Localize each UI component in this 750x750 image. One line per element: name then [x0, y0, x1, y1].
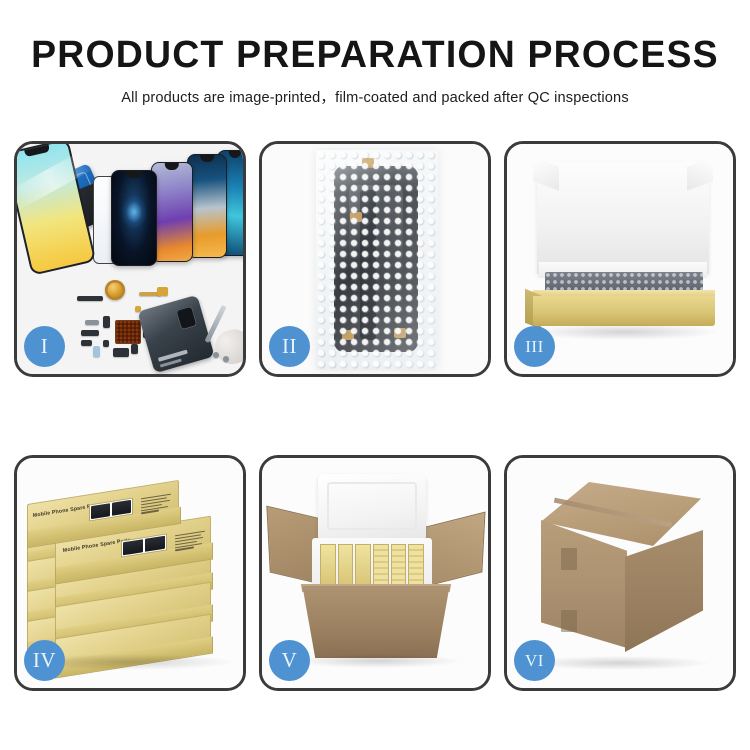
- component-part: [93, 346, 100, 357]
- yellow-box-front: [533, 296, 715, 326]
- step-panel-6: VI: [504, 455, 736, 691]
- component-part: [77, 296, 103, 301]
- copper-coil-icon: [105, 280, 125, 300]
- stacked-box-labelled: Mobile Phone Spare Parts: [27, 492, 179, 522]
- step-panel-3: III: [504, 141, 736, 377]
- step-badge-2: II: [269, 326, 310, 367]
- header: PRODUCT PREPARATION PROCESS All products…: [0, 36, 750, 107]
- grid-chip-icon: [115, 320, 141, 344]
- component-part: [213, 352, 219, 358]
- step-panel-5: V: [259, 455, 491, 691]
- carton-tab: [561, 610, 577, 632]
- purple-gradient-phone-icon: [151, 162, 193, 262]
- step-badge-5: V: [269, 640, 310, 681]
- dark-wallpaper-phone-icon: [111, 170, 157, 266]
- step-panel-4: Mobile Phone Spare Parts Mobile Phone Sp…: [14, 455, 246, 691]
- step-panel-1: I: [14, 141, 246, 377]
- foam-box-lid-icon: [318, 474, 426, 542]
- component-part: [81, 340, 92, 346]
- plastic-sheen: [316, 150, 438, 370]
- page-subtitle: All products are image-printed，film-coat…: [0, 86, 750, 107]
- step-badge-1: I: [24, 326, 65, 367]
- component-part: [131, 344, 138, 354]
- component-part: [85, 320, 99, 325]
- carton-left-face: [541, 520, 627, 648]
- process-step-grid: I II: [14, 141, 736, 691]
- large-yellow-screen-phone-icon: [17, 144, 96, 276]
- stacked-box: [55, 594, 211, 620]
- white-box-lid-icon: [537, 162, 709, 274]
- component-part: [113, 348, 129, 357]
- cardboard-carton-body: [296, 586, 456, 658]
- bubble-wrap-bag-icon: [316, 150, 438, 370]
- component-part: [223, 356, 229, 362]
- component-part: [103, 340, 109, 347]
- component-part: [81, 330, 99, 336]
- carton-right-face: [625, 530, 703, 652]
- page-title: PRODUCT PREPARATION PROCESS: [6, 36, 745, 76]
- stacked-box: [55, 626, 211, 652]
- carton-tab: [561, 548, 577, 570]
- step-badge-4: IV: [24, 640, 65, 681]
- step-panel-2: II: [259, 141, 491, 377]
- product-preparation-infographic: PRODUCT PREPARATION PROCESS All products…: [0, 0, 750, 750]
- drop-shadow: [531, 324, 717, 340]
- component-part: [103, 316, 110, 328]
- step-badge-3: III: [514, 326, 555, 367]
- connector-part: [157, 287, 168, 296]
- drop-shadow: [294, 654, 460, 668]
- drop-shadow: [529, 656, 709, 670]
- sealed-carton-icon: [525, 482, 719, 666]
- yellow-boxes-inside: [320, 544, 424, 586]
- orange-gradient-phone-icon: [187, 154, 227, 258]
- step-badge-6: VI: [514, 640, 555, 681]
